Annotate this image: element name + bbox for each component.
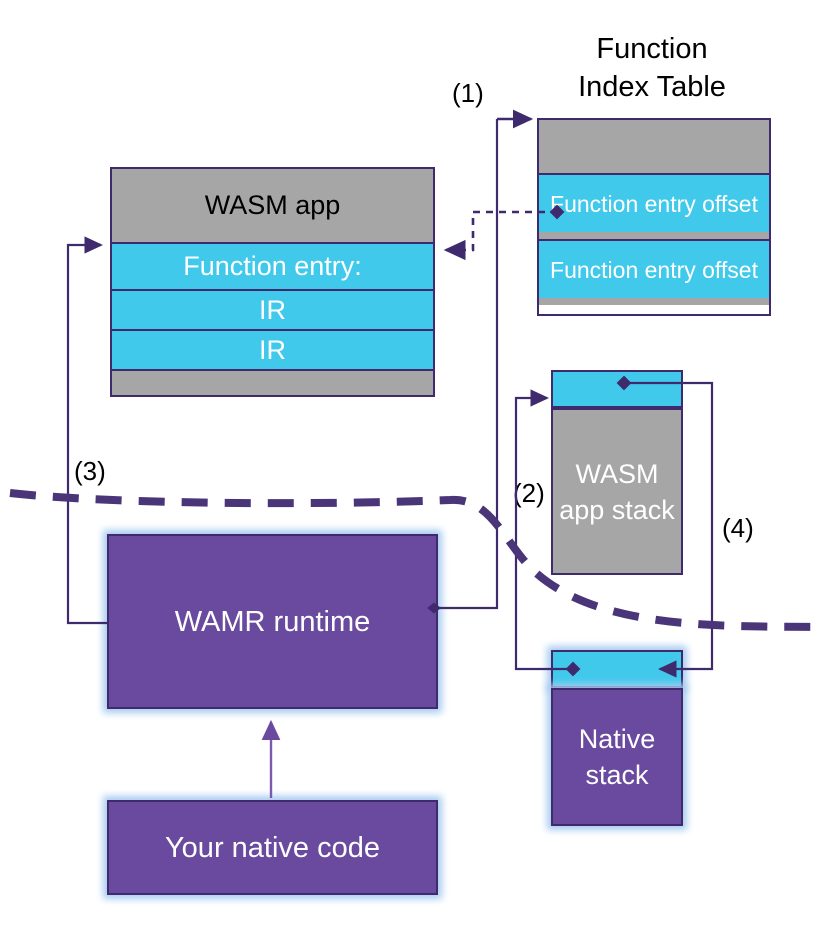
native-stack-label-line1: Native xyxy=(579,721,656,757)
entry-2-text: Function entry offset xyxy=(550,256,758,284)
wasm-app-row-ir-2: IR xyxy=(112,329,433,369)
function-index-table-header xyxy=(539,120,769,173)
step-label-4: (4) xyxy=(722,513,754,543)
page-title: Function Index Table xyxy=(562,30,742,106)
wasm-app-footer xyxy=(112,369,433,395)
wasm-app-row-function-entry: Function entry: xyxy=(112,242,433,289)
wasm-app-stack-label-line1: WASM xyxy=(576,456,659,492)
diagram-canvas: Function Index Table (1) (2) (3) (4) WAS… xyxy=(0,0,819,925)
page-title-line2: Index Table xyxy=(562,68,742,106)
wasm-app-header: WASM app xyxy=(112,169,433,242)
function-index-table-entry-2: Function entry offset xyxy=(539,239,769,298)
native-stack-top-band[interactable] xyxy=(551,650,683,688)
step-label-1: (1) xyxy=(452,78,484,108)
entry-1-separator xyxy=(539,232,769,239)
native-stack-label-line2: stack xyxy=(585,757,648,793)
wasm-app-stack-label-line2: app stack xyxy=(559,492,675,528)
connector-step-3 xyxy=(68,245,107,623)
function-index-table-box[interactable]: Function entry offset Function entry off… xyxy=(537,118,771,316)
wasm-app-row-ir-1: IR xyxy=(112,289,433,329)
your-native-code-box[interactable]: Your native code xyxy=(107,800,438,895)
entry-2-separator xyxy=(539,298,769,305)
wasm-app-box[interactable]: WASM app Function entry: IR IR xyxy=(110,167,435,397)
wamr-runtime-label: WAMR runtime xyxy=(175,602,371,642)
your-native-code-label: Your native code xyxy=(165,828,380,868)
wasm-app-stack-box[interactable]: WASM app stack xyxy=(551,408,683,575)
wasm-app-stack-top-band[interactable] xyxy=(551,370,683,408)
step-label-2: (2) xyxy=(513,478,545,508)
step-label-3: (3) xyxy=(74,456,106,486)
wamr-runtime-box[interactable]: WAMR runtime xyxy=(107,534,438,709)
page-title-line1: Function xyxy=(562,30,742,68)
entry-1-text: Function entry offset xyxy=(550,190,758,218)
connector-step-1 xyxy=(429,119,531,612)
function-index-table-entry-1: Function entry offset xyxy=(539,173,769,232)
native-stack-box[interactable]: Native stack xyxy=(551,688,683,826)
